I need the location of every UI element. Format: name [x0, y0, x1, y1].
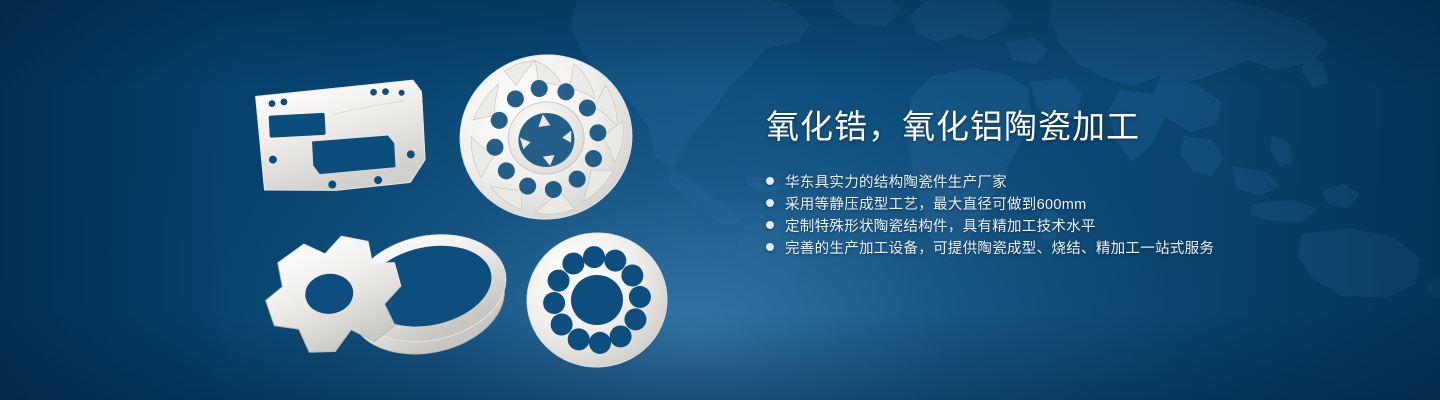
list-item: 完善的生产加工设备，可提供陶瓷成型、烧结、精加工一站式服务: [766, 236, 1386, 258]
feature-text: 定制特殊形状陶瓷结构件，具有精加工技术水平: [785, 215, 1096, 236]
bullet-dot-icon: [766, 177, 774, 185]
bullet-dot-icon: [766, 243, 774, 251]
bullet-dot-icon: [766, 221, 774, 229]
banner-copy: 氧化锆，氧化铝陶瓷加工 华东具实力的结构陶瓷件生产厂家 采用等静压成型工艺，最大…: [766, 104, 1386, 258]
list-item: 采用等静压成型工艺，最大直径可做到600mm: [766, 192, 1386, 214]
hero-banner: 氧化锆，氧化铝陶瓷加工 华东具实力的结构陶瓷件生产厂家 采用等静压成型工艺，最大…: [0, 0, 1440, 400]
ceramic-plate-image: [248, 78, 434, 202]
feature-text: 完善的生产加工设备，可提供陶瓷成型、烧结、精加工一站式服务: [785, 237, 1214, 258]
feature-text: 采用等静压成型工艺，最大直径可做到600mm: [785, 193, 1086, 214]
ceramic-cross-plate-image: [252, 230, 442, 370]
list-item: 华东具实力的结构陶瓷件生产厂家: [766, 170, 1386, 192]
feature-list: 华东具实力的结构陶瓷件生产厂家 采用等静压成型工艺，最大直径可做到600mm 定…: [766, 170, 1386, 258]
feature-text: 华东具实力的结构陶瓷件生产厂家: [785, 171, 1007, 192]
page-title: 氧化锆，氧化铝陶瓷加工: [766, 104, 1386, 150]
ceramic-impeller-image: [452, 48, 640, 226]
product-image-group: [0, 0, 720, 400]
bullet-dot-icon: [766, 199, 774, 207]
list-item: 定制特殊形状陶瓷结构件，具有精加工技术水平: [766, 214, 1386, 236]
ceramic-hole-disc-image: [522, 228, 672, 372]
